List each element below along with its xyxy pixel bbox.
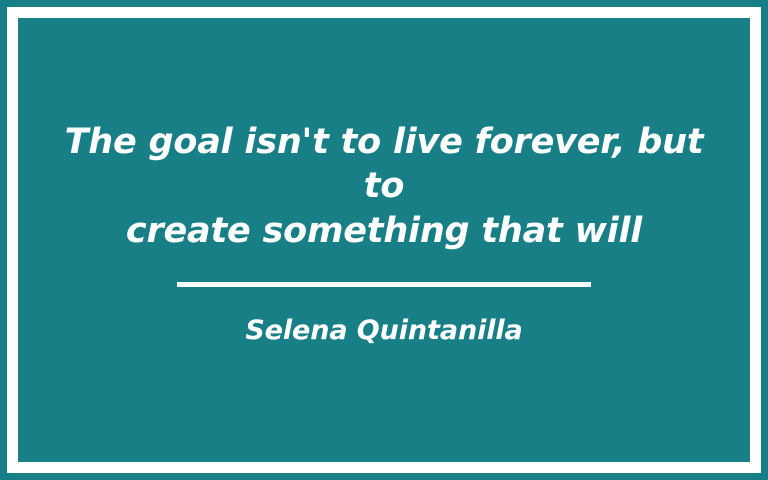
quote-divider [177,282,591,287]
quote-author: Selena Quintanilla [245,315,522,346]
quote-text: The goal isn't to live forever, but to c… [18,120,750,252]
quote-card: The goal isn't to live forever, but to c… [0,0,768,480]
quote-content: The goal isn't to live forever, but to c… [18,120,750,359]
card-frame-border: The goal isn't to live forever, but to c… [7,7,761,473]
